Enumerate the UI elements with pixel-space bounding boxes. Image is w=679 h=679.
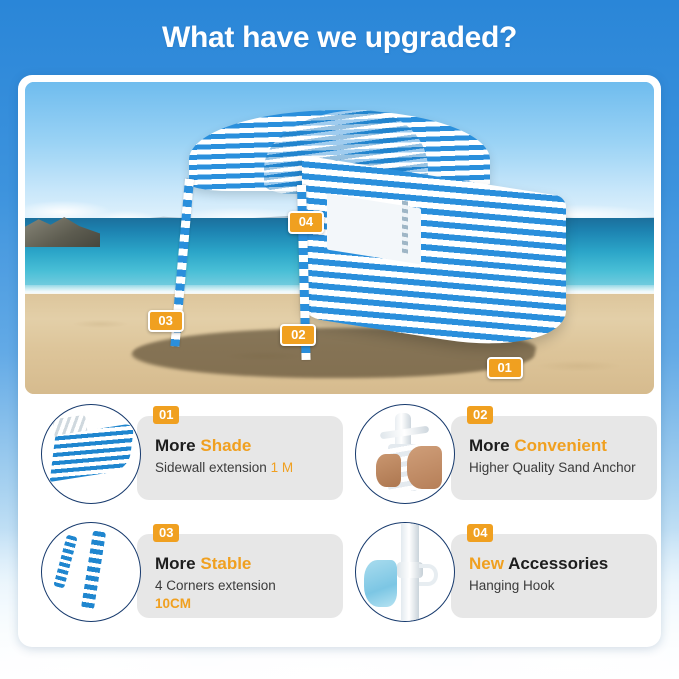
feature-sub-02-main: Higher Quality Sand Anchor [469,460,636,475]
feature-headline-02-main: More [469,436,510,455]
feature-headline-01-accent: Shade [200,436,251,455]
photo-marker-01[interactable]: 01 [487,357,523,379]
feature-card-02[interactable]: 02 More Convenient Higher Quality Sand A… [347,404,657,514]
feature-sub-01-main: Sidewall extension [155,460,271,475]
corner-strap-b [81,530,106,609]
feature-headline-03: More Stable [155,554,251,574]
hanging-towel [364,560,397,607]
hand-left [376,454,401,487]
feature-headline-01: More Shade [155,436,251,456]
photo-marker-04[interactable]: 04 [288,211,324,233]
feature-number-03: 03 [153,524,179,542]
sand-anchor-icon [355,404,455,504]
feature-number-01: 01 [153,406,179,424]
feature-sub-03-main: 4 Corners extension [155,578,276,593]
photo-marker-03[interactable]: 03 [148,310,184,332]
content-panel: 01 02 03 04 01 More Shade [18,75,661,647]
corner-strap-a [53,534,77,588]
feature-card-04[interactable]: 04 New Accessories Hanging Hook [347,522,657,632]
photo-marker-02[interactable]: 02 [280,324,316,346]
feature-sub-03-accent: 10CM [155,596,191,611]
feature-headline-04-main: Accessories [508,554,608,573]
feature-card-03[interactable]: 03 More Stable 4 Corners extension 10CM [33,522,343,632]
hand-right [407,446,442,489]
feature-sub-01-accent: 1 M [271,460,294,475]
feature-sub-04-main: Hanging Hook [469,578,555,593]
feature-sub-03: 4 Corners extension 10CM [155,577,335,613]
feature-sub-04: Hanging Hook [469,577,649,595]
striped-sidewall-icon [41,404,141,504]
feature-headline-04-accent: New [469,554,504,573]
hook-arm [419,564,439,586]
promo-page: What have we upgraded? [0,0,679,679]
feature-headline-02: More Convenient [469,436,607,456]
feature-headline-02-accent: Convenient [514,436,607,455]
feature-headline-01-main: More [155,436,196,455]
sidewall-zipper [402,200,408,254]
feature-card-01[interactable]: 01 More Shade Sidewall extension 1 M [33,404,343,514]
hero-photo: 01 02 03 04 [25,82,654,394]
feature-number-02: 02 [467,406,493,424]
corner-straps-icon [41,522,141,622]
page-title: What have we upgraded? [0,21,679,55]
feature-card-01-panel [137,416,343,500]
feature-headline-03-main: More [155,554,196,573]
feature-card-grid: 01 More Shade Sidewall extension 1 M [25,404,654,636]
feature-card-04-panel [451,534,657,618]
beach-canopy-tent [25,82,654,394]
hanging-hook-icon [355,522,455,622]
feature-sub-02: Higher Quality Sand Anchor [469,459,649,477]
feature-card-02-panel [451,416,657,500]
feature-headline-04: New Accessories [469,554,608,574]
feature-headline-03-accent: Stable [200,554,251,573]
sidewall-extension [302,155,566,359]
feature-sub-01: Sidewall extension 1 M [155,459,335,477]
feature-number-04: 04 [467,524,493,542]
